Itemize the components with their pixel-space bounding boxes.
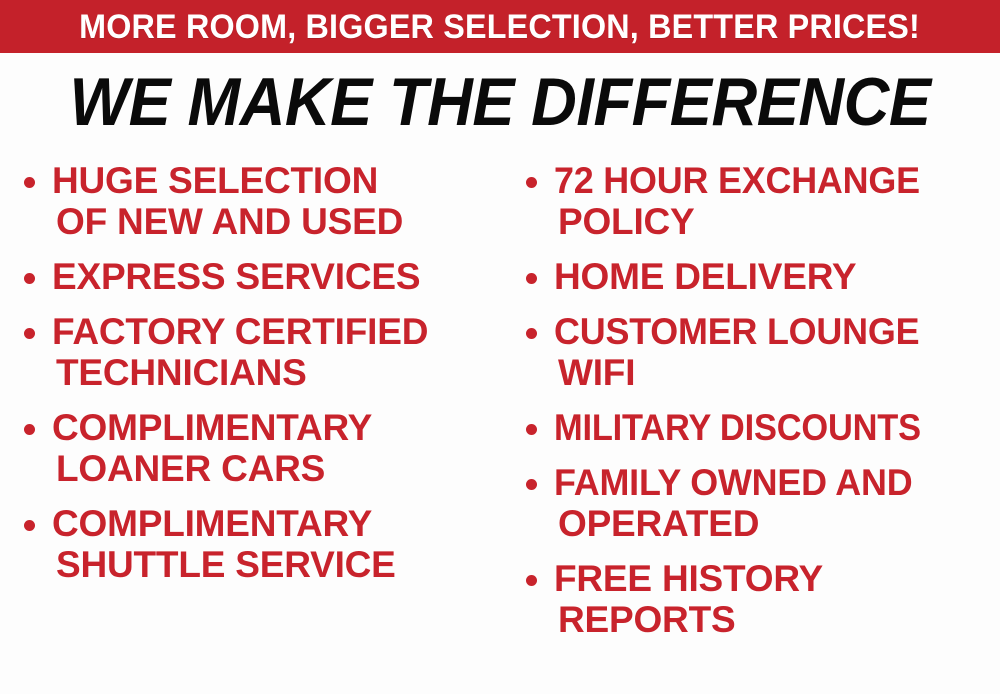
list-item-text: EXPRESS SERVICES <box>52 256 500 297</box>
bullet-dot-icon <box>526 273 537 284</box>
list-item-line-1: EXPRESS SERVICES <box>52 256 500 297</box>
list-item: COMPLIMENTARY LOANER CARS <box>16 407 500 489</box>
list-item-line-1: HUGE SELECTION <box>52 160 500 201</box>
top-banner: MORE ROOM, BIGGER SELECTION, BETTER PRIC… <box>0 0 1000 53</box>
list-item: CUSTOMER LOUNGE WIFI <box>518 311 1000 393</box>
list-item: MILITARY DISCOUNTS <box>518 407 1000 448</box>
benefits-column-right: 72 HOUR EXCHANGE POLICY HOME DELIVERY CU… <box>518 160 1000 654</box>
list-item-text: FACTORY CERTIFIED TECHNICIANS <box>52 311 500 393</box>
bullet-dot-icon <box>526 177 537 188</box>
list-item-text: CUSTOMER LOUNGE WIFI <box>554 311 1000 393</box>
list-item-text: FAMILY OWNED AND OPERATED <box>554 462 1000 544</box>
bullet-dot-icon <box>526 328 537 339</box>
list-item-line-2: TECHNICIANS <box>52 352 500 393</box>
list-item-text: HUGE SELECTION OF NEW AND USED <box>52 160 500 242</box>
list-item-line-1: COMPLIMENTARY <box>52 503 500 544</box>
bullet-dot-icon <box>24 424 35 435</box>
list-item-line-1: MILITARY DISCOUNTS <box>554 407 1000 448</box>
list-item-line-2: REPORTS <box>554 599 1000 640</box>
bullet-dot-icon <box>526 424 537 435</box>
list-item-line-2: WIFI <box>554 352 1000 393</box>
benefits-column-left: HUGE SELECTION OF NEW AND USED EXPRESS S… <box>16 160 500 599</box>
list-item-line-1: COMPLIMENTARY <box>52 407 500 448</box>
bullet-dot-icon <box>24 273 35 284</box>
list-item-line-2: OF NEW AND USED <box>52 201 500 242</box>
bullet-dot-icon <box>526 479 537 490</box>
list-item-text: 72 HOUR EXCHANGE POLICY <box>554 160 1000 242</box>
list-item-line-1: 72 HOUR EXCHANGE <box>554 160 1000 201</box>
top-banner-headline: MORE ROOM, BIGGER SELECTION, BETTER PRIC… <box>80 10 921 44</box>
list-item-line-1: CUSTOMER LOUNGE <box>554 311 1000 352</box>
list-item-text: COMPLIMENTARY LOANER CARS <box>52 407 500 489</box>
list-item-line-1: FACTORY CERTIFIED <box>52 311 500 352</box>
bullet-dot-icon <box>24 328 35 339</box>
list-item: FAMILY OWNED AND OPERATED <box>518 462 1000 544</box>
list-item-line-2: OPERATED <box>554 503 1000 544</box>
benefits-columns: HUGE SELECTION OF NEW AND USED EXPRESS S… <box>0 160 1000 694</box>
page-title: WE MAKE THE DIFFERENCE <box>35 68 965 136</box>
bullet-dot-icon <box>526 575 537 586</box>
list-item: HUGE SELECTION OF NEW AND USED <box>16 160 500 242</box>
list-item: COMPLIMENTARY SHUTTLE SERVICE <box>16 503 500 585</box>
list-item-text: MILITARY DISCOUNTS <box>554 407 1000 448</box>
list-item-line-2: POLICY <box>554 201 1000 242</box>
list-item-text: HOME DELIVERY <box>554 256 1000 297</box>
list-item-line-2: LOANER CARS <box>52 448 500 489</box>
bullet-dot-icon <box>24 177 35 188</box>
list-item: EXPRESS SERVICES <box>16 256 500 297</box>
list-item-text: COMPLIMENTARY SHUTTLE SERVICE <box>52 503 500 585</box>
bullet-dot-icon <box>24 520 35 531</box>
list-item-text: FREE HISTORY REPORTS <box>554 558 1000 640</box>
list-item: HOME DELIVERY <box>518 256 1000 297</box>
list-item-line-1: FAMILY OWNED AND <box>554 462 1000 503</box>
list-item-line-2: SHUTTLE SERVICE <box>52 544 500 585</box>
list-item: 72 HOUR EXCHANGE POLICY <box>518 160 1000 242</box>
list-item: FREE HISTORY REPORTS <box>518 558 1000 640</box>
promotional-poster: MORE ROOM, BIGGER SELECTION, BETTER PRIC… <box>0 0 1000 694</box>
list-item-line-1: FREE HISTORY <box>554 558 1000 599</box>
list-item-line-1: HOME DELIVERY <box>554 256 1000 297</box>
list-item: FACTORY CERTIFIED TECHNICIANS <box>16 311 500 393</box>
